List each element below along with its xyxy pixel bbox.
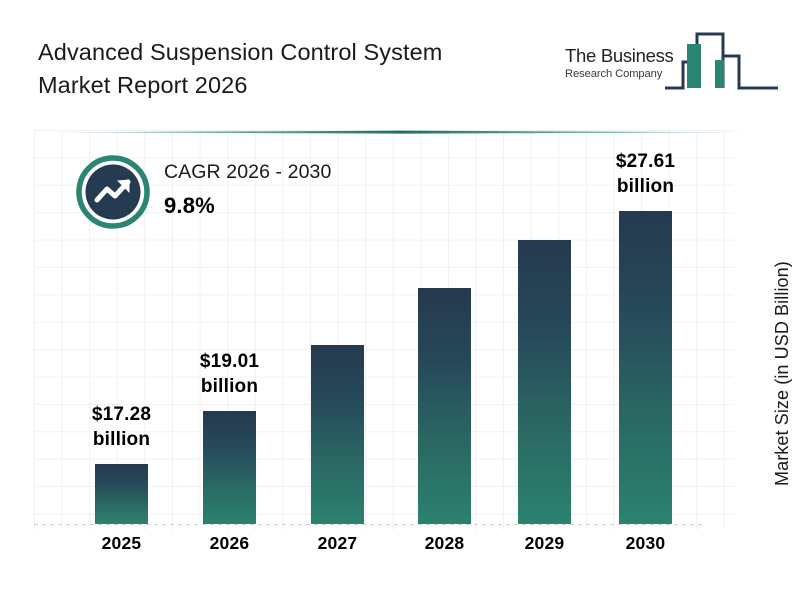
bar-value-label-amount: $17.28 [52,402,192,427]
x-axis-label-2026: 2026 [185,533,275,554]
x-axis-label-2029: 2029 [500,533,590,554]
company-logo-line-2: Research Company [565,67,673,81]
bar-value-label-unit: billion [160,374,300,399]
company-logo-line-1: The Business [565,46,673,66]
bar-2026 [203,411,256,524]
cagr-label: CAGR 2026 - 2030 [164,161,331,184]
chart-page: Advanced Suspension Control System Marke… [0,0,800,600]
bar-2027 [311,345,364,524]
trending-up-arrow-icon [76,155,150,229]
page-title: Advanced Suspension Control System Marke… [38,36,538,102]
bar-value-label-unit: billion [576,174,716,199]
page-title-line-1: Advanced Suspension Control System [38,36,538,69]
x-axis-baseline [34,524,702,525]
x-axis-label-2030: 2030 [601,533,691,554]
x-axis-label-2027: 2027 [293,533,383,554]
header-divider [30,121,772,125]
bar-value-label-unit: billion [52,427,192,452]
bar-chart-logo-mark [665,26,778,96]
cagr-text-group: CAGR 2026 - 2030 9.8% [164,161,331,219]
y-axis-title: Market Size (in USD Billion) [772,224,794,524]
bar-2030 [619,211,672,524]
company-logo-text: The Business Research Company [565,46,673,81]
company-logo: The Business Research Company [560,26,778,98]
header: Advanced Suspension Control System Marke… [0,0,800,118]
cagr-value: 9.8% [164,193,331,219]
x-axis-label-2028: 2028 [400,533,490,554]
bar-2029 [518,240,571,524]
cagr-annotation: CAGR 2026 - 2030 9.8% [76,155,406,237]
bar-value-label-2030: $27.61billion [576,149,716,199]
bar-value-label-amount: $19.01 [160,349,300,374]
bar-2025 [95,464,148,524]
x-axis-label-2025: 2025 [77,533,167,554]
bar-value-label-2025: $17.28billion [52,402,192,452]
bar-value-label-amount: $27.61 [576,149,716,174]
bar-2028 [418,288,471,524]
page-title-line-2: Market Report 2026 [38,69,538,102]
bar-value-label-2026: $19.01billion [160,349,300,399]
